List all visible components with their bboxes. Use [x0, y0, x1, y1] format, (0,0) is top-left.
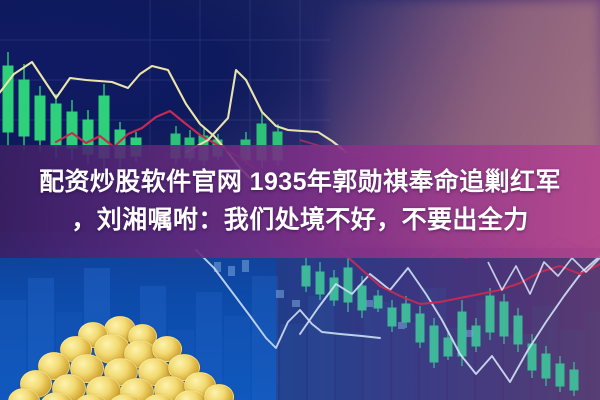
red-trend-line-lower-right [340, 250, 600, 304]
white-trend-line-lower-right [300, 256, 600, 382]
headline-line-2: ，刘湘嘱咐：我们处境不好，不要出全力 [71, 203, 528, 239]
headline-line-1: 配资炒股软件官网 1935年郭勋祺奉命追剿红军 [39, 165, 561, 201]
gold-coins-pile [8, 314, 238, 400]
title-band: 配资炒股软件官网 1935年郭勋祺奉命追剿红军 ，刘湘嘱咐：我们处境不好，不要出… [0, 145, 600, 258]
banner-image: 配资炒股软件官网 1935年郭勋祺奉命追剿红军 ，刘湘嘱咐：我们处境不好，不要出… [0, 0, 600, 400]
